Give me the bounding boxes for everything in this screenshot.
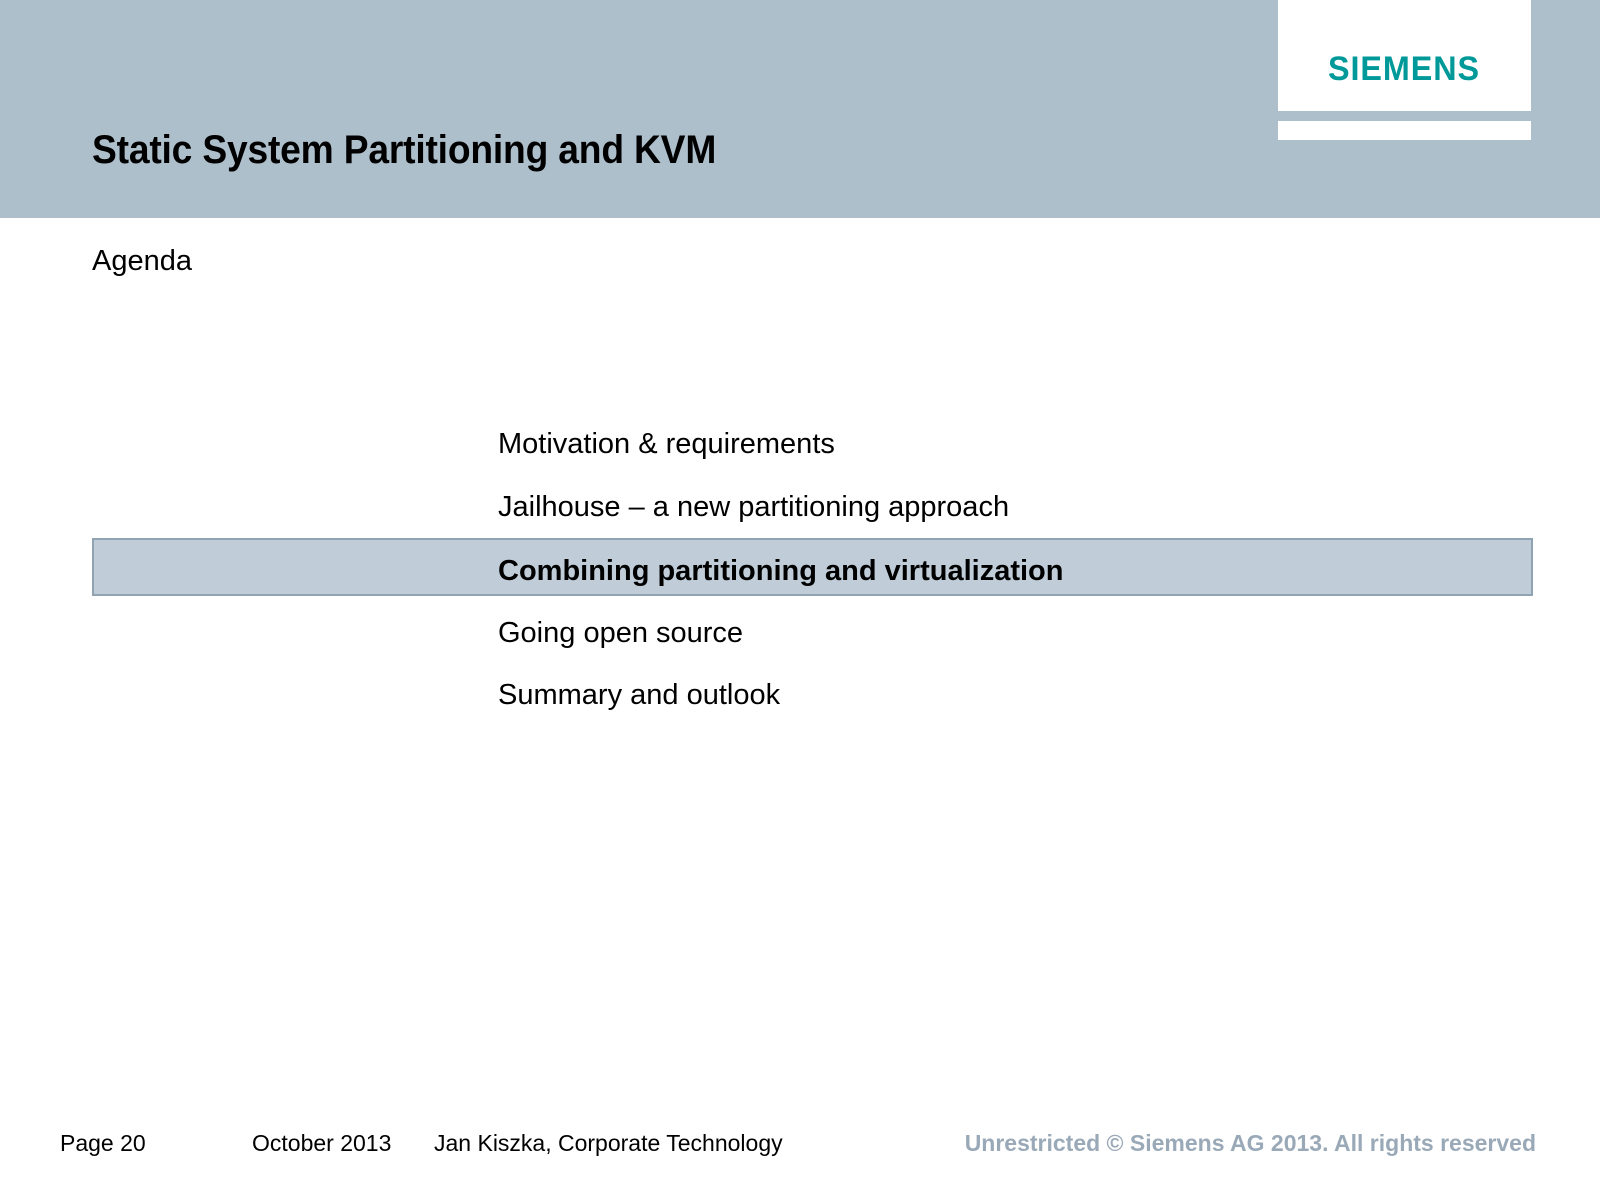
agenda-item-combining-partitioning-virtualization[interactable]: Combining partitioning and virtualizatio… bbox=[498, 553, 1063, 589]
footer-copyright: Unrestricted © Siemens AG 2013. All righ… bbox=[965, 1128, 1536, 1158]
agenda-item-summary-outlook[interactable]: Summary and outlook bbox=[498, 677, 780, 713]
agenda-item-jailhouse-partitioning-approach[interactable]: Jailhouse – a new partitioning approach bbox=[498, 489, 1009, 525]
footer-date: October 2013 bbox=[252, 1128, 391, 1158]
slide-footer: Page 20 October 2013 Jan Kiszka, Corpora… bbox=[0, 1128, 1600, 1168]
agenda-item-motivation-requirements[interactable]: Motivation & requirements bbox=[498, 426, 835, 462]
footer-author: Jan Kiszka, Corporate Technology bbox=[434, 1128, 783, 1158]
agenda-list: Motivation & requirements Jailhouse – a … bbox=[0, 0, 1600, 1200]
agenda-item-going-open-source[interactable]: Going open source bbox=[498, 615, 743, 651]
footer-page-number: Page 20 bbox=[60, 1128, 146, 1158]
